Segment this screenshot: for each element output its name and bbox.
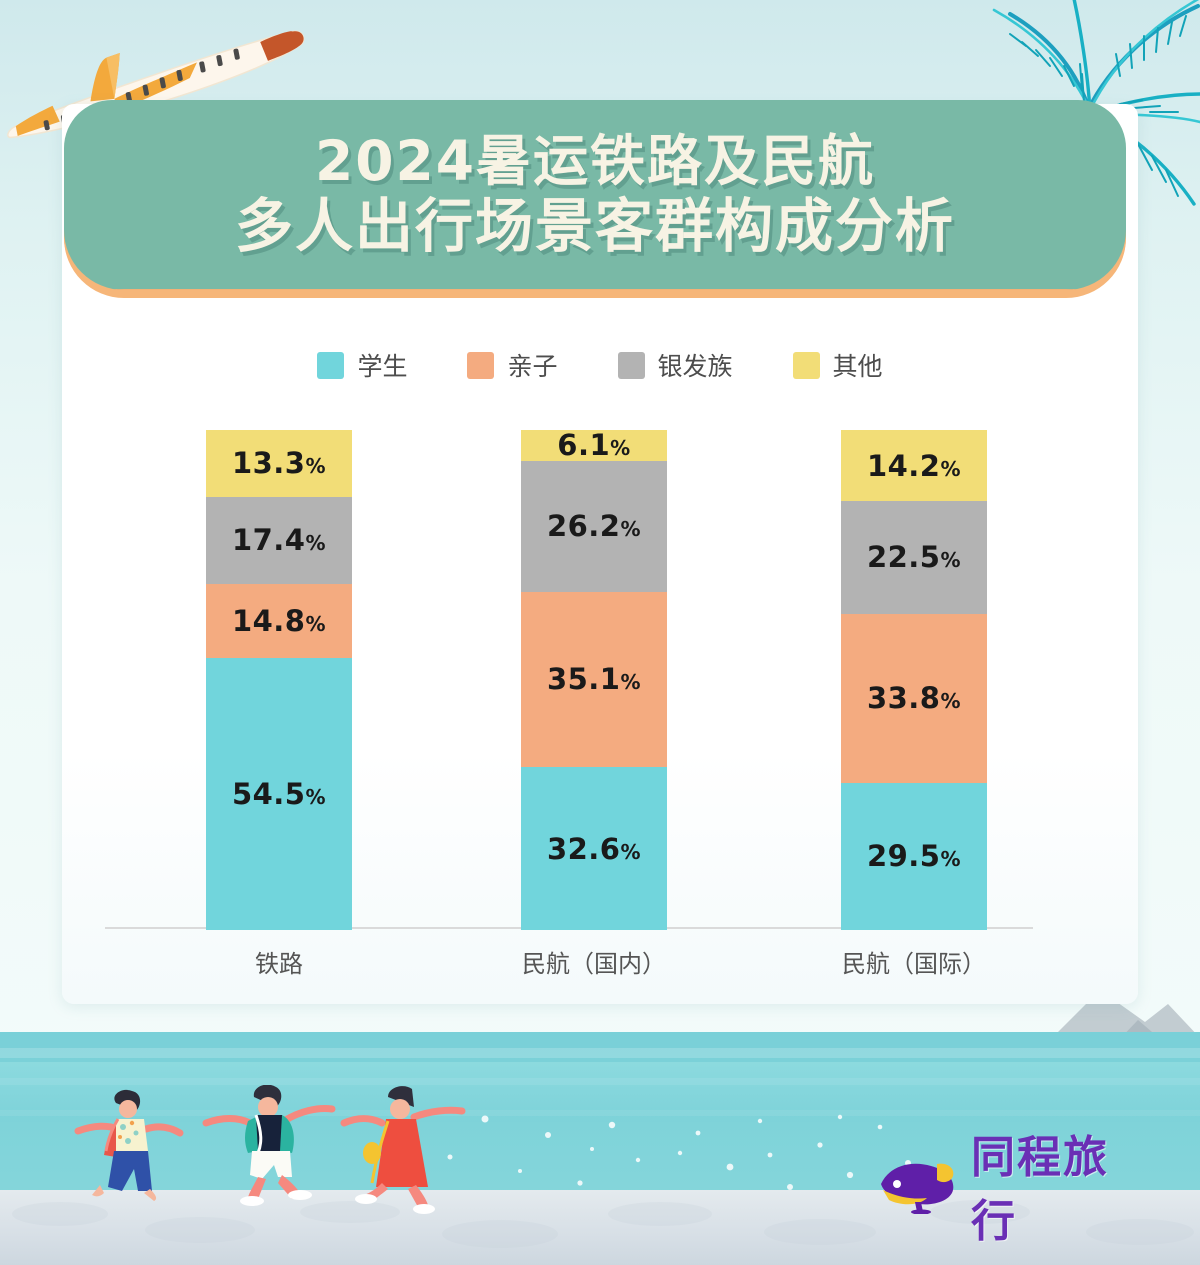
bar-value-label: 17.4% bbox=[232, 523, 326, 557]
bar-value-label: 14.2% bbox=[867, 449, 961, 483]
traveler-2 bbox=[206, 1085, 332, 1206]
category-label-1: 铁路 bbox=[255, 944, 303, 979]
category-label-2: 民航（国内） bbox=[522, 944, 666, 979]
bar-value-label: 14.8% bbox=[232, 604, 326, 638]
bar-value-label: 32.6% bbox=[547, 832, 641, 866]
bird-logo-icon bbox=[875, 1156, 961, 1214]
bar-segment-其他[interactable]: 14.2% bbox=[841, 430, 987, 501]
bar-segment-银发族[interactable]: 17.4% bbox=[206, 497, 352, 584]
sea-wave-2 bbox=[0, 1078, 1200, 1085]
bar-3[interactable]: 14.2%22.5%33.8%29.5% bbox=[841, 430, 987, 930]
bar-value-label: 33.8% bbox=[867, 681, 961, 715]
bar-value-label: 13.3% bbox=[232, 446, 326, 480]
travelers-illustration bbox=[60, 1085, 480, 1225]
page-title-line-2: 多人出行场景客群构成分析 bbox=[235, 195, 955, 258]
bar-value-label: 29.5% bbox=[867, 839, 961, 873]
legend-item-family[interactable]: 亲子 bbox=[467, 347, 557, 383]
legend-swatch-family bbox=[467, 352, 494, 379]
bar-value-label: 6.1% bbox=[557, 428, 630, 462]
legend-swatch-other bbox=[793, 352, 820, 379]
bar-segment-学生[interactable]: 32.6% bbox=[521, 767, 667, 930]
legend-label-other: 其他 bbox=[833, 347, 883, 383]
legend-item-senior[interactable]: 银发族 bbox=[618, 347, 733, 383]
traveler-1 bbox=[78, 1090, 180, 1201]
legend-item-student[interactable]: 学生 bbox=[317, 347, 407, 383]
title-banner: 2024暑运铁路及民航 多人出行场景客群构成分析 bbox=[64, 100, 1126, 290]
legend-label-student: 学生 bbox=[357, 347, 407, 383]
bar-value-label: 54.5% bbox=[232, 777, 326, 811]
legend-swatch-student bbox=[317, 352, 344, 379]
bar-segment-银发族[interactable]: 22.5% bbox=[841, 501, 987, 614]
bar-segment-其他[interactable]: 13.3% bbox=[206, 430, 352, 497]
brand-name: 同程旅行 bbox=[971, 1121, 1140, 1249]
chart-legend: 学生 亲子 银发族 其他 bbox=[62, 341, 1138, 389]
traveler-3 bbox=[344, 1086, 462, 1214]
legend-label-senior: 银发族 bbox=[658, 347, 733, 383]
legend-item-other[interactable]: 其他 bbox=[793, 347, 883, 383]
brand-logo[interactable]: 同程旅行 bbox=[875, 1150, 1140, 1220]
bar-2[interactable]: 6.1%26.2%35.1%32.6% bbox=[521, 430, 667, 930]
bar-segment-银发族[interactable]: 26.2% bbox=[521, 461, 667, 592]
bar-segment-亲子[interactable]: 14.8% bbox=[206, 584, 352, 658]
bar-segment-亲子[interactable]: 35.1% bbox=[521, 592, 667, 768]
sea-wave-1 bbox=[0, 1048, 1200, 1058]
legend-swatch-senior bbox=[618, 352, 645, 379]
bar-value-label: 22.5% bbox=[867, 540, 961, 574]
bar-segment-学生[interactable]: 29.5% bbox=[841, 783, 987, 931]
bar-segment-其他[interactable]: 6.1% bbox=[521, 430, 667, 461]
stacked-bar-chart: 13.3%17.4%14.8%54.5%6.1%26.2%35.1%32.6%1… bbox=[105, 430, 1095, 930]
category-label-3: 民航（国际） bbox=[842, 944, 986, 979]
page-title-line-1: 2024暑运铁路及民航 bbox=[315, 132, 875, 191]
bar-segment-亲子[interactable]: 33.8% bbox=[841, 614, 987, 783]
bar-value-label: 26.2% bbox=[547, 509, 641, 543]
bar-value-label: 35.1% bbox=[547, 662, 641, 696]
bar-1[interactable]: 13.3%17.4%14.8%54.5% bbox=[206, 430, 352, 930]
legend-label-family: 亲子 bbox=[507, 347, 557, 383]
bar-segment-学生[interactable]: 54.5% bbox=[206, 658, 352, 931]
